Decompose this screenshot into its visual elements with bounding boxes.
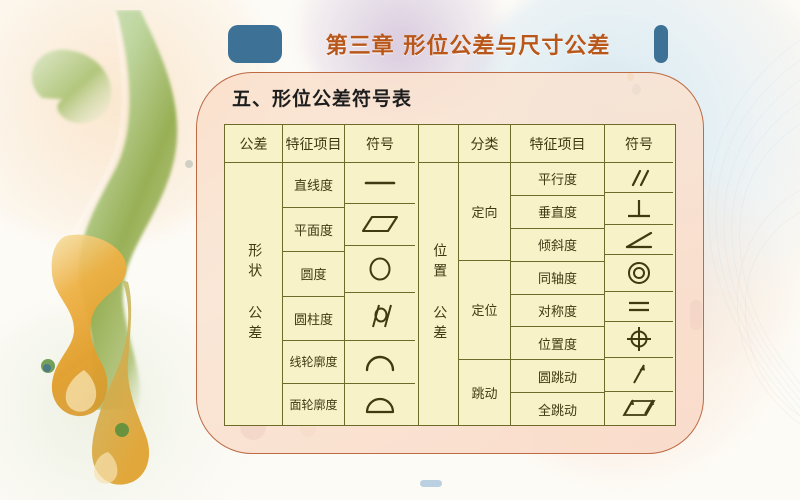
column-left-symbol: 符号 bbox=[345, 125, 415, 425]
perpendicularity-icon bbox=[605, 193, 673, 225]
header-right-feature: 特征项目 bbox=[511, 125, 604, 163]
table-left-section: 公差 形状 公差 特征项目 直线度 平面度 圆度 圆柱度 线轮廓度 面轮廓度 符… bbox=[225, 125, 419, 425]
class-label-runout: 跳动 bbox=[459, 360, 510, 426]
class-label-orientation: 定向 bbox=[459, 163, 510, 261]
circular-runout-icon bbox=[605, 358, 673, 392]
section-subtitle: 五、形位公差符号表 bbox=[232, 84, 412, 111]
position-icon bbox=[605, 322, 673, 358]
cell-feature: 全跳动 bbox=[511, 393, 604, 425]
cell-feature: 圆柱度 bbox=[283, 297, 344, 342]
column-classification: 分类 定向 定位 跳动 bbox=[459, 125, 511, 425]
column-left-feature: 特征项目 直线度 平面度 圆度 圆柱度 线轮廓度 面轮廓度 bbox=[283, 125, 345, 425]
column-right-symbol: 符号 bbox=[605, 125, 673, 425]
cylindricity-icon bbox=[345, 293, 415, 342]
straightness-icon bbox=[345, 163, 415, 204]
header-right-symbol: 符号 bbox=[605, 125, 673, 163]
header-left-feature: 特征项目 bbox=[283, 125, 344, 163]
table-right-section: 位置 公差 分类 定向 定位 跳动 特征项目 平行度 垂直度 倾斜度 同轴度 对… bbox=[419, 125, 675, 425]
cell-feature: 平面度 bbox=[283, 208, 344, 253]
cell-feature: 同轴度 bbox=[511, 262, 604, 295]
cell-feature: 对称度 bbox=[511, 295, 604, 328]
cell-feature: 倾斜度 bbox=[511, 229, 604, 262]
header-classification: 分类 bbox=[459, 125, 510, 163]
cell-feature: 平行度 bbox=[511, 163, 604, 196]
flatness-icon bbox=[345, 204, 415, 247]
cell-feature: 圆跳动 bbox=[511, 360, 604, 393]
slide-title-bar: 第三章 形位公差与尺寸公差 bbox=[228, 22, 668, 66]
page-title: 第三章 形位公差与尺寸公差 bbox=[292, 28, 644, 60]
decor-dot-7 bbox=[420, 480, 442, 487]
cell-feature: 位置度 bbox=[511, 327, 604, 360]
cell-feature: 面轮廓度 bbox=[283, 384, 344, 426]
cell-feature: 垂直度 bbox=[511, 196, 604, 229]
cell-feature: 线轮廓度 bbox=[283, 341, 344, 384]
line-profile-icon bbox=[345, 341, 415, 384]
tolerance-symbol-table: 公差 形状 公差 特征项目 直线度 平面度 圆度 圆柱度 线轮廓度 面轮廓度 符… bbox=[224, 124, 676, 426]
title-chip-right bbox=[654, 25, 668, 63]
header-tolerance: 公差 bbox=[225, 125, 282, 163]
group-label-position-tolerance: 位置 公差 bbox=[419, 163, 458, 425]
cell-feature: 直线度 bbox=[283, 163, 344, 208]
column-position-group: 位置 公差 bbox=[419, 125, 459, 425]
cell-feature: 圆度 bbox=[283, 252, 344, 297]
column-tolerance-group: 公差 形状 公差 bbox=[225, 125, 283, 425]
symmetry-icon bbox=[605, 292, 673, 322]
surface-profile-icon bbox=[345, 384, 415, 426]
class-label-location: 定位 bbox=[459, 261, 510, 359]
parallelism-icon bbox=[605, 163, 673, 193]
column-right-feature: 特征项目 平行度 垂直度 倾斜度 同轴度 对称度 位置度 圆跳动 全跳动 bbox=[511, 125, 605, 425]
header-classification-spacer bbox=[419, 125, 458, 163]
title-chip-left bbox=[228, 25, 282, 63]
concentricity-icon bbox=[605, 255, 673, 291]
angularity-icon bbox=[605, 225, 673, 255]
roundness-icon bbox=[345, 246, 415, 293]
slide-canvas: 第三章 形位公差与尺寸公差 五、形位公差符号表 公差 形状 公差 特征项目 直线… bbox=[0, 0, 800, 500]
total-runout-icon bbox=[605, 392, 673, 425]
group-label-form-tolerance: 形状 公差 bbox=[225, 163, 282, 425]
header-left-symbol: 符号 bbox=[345, 125, 415, 163]
decor-dot-3 bbox=[185, 160, 193, 168]
